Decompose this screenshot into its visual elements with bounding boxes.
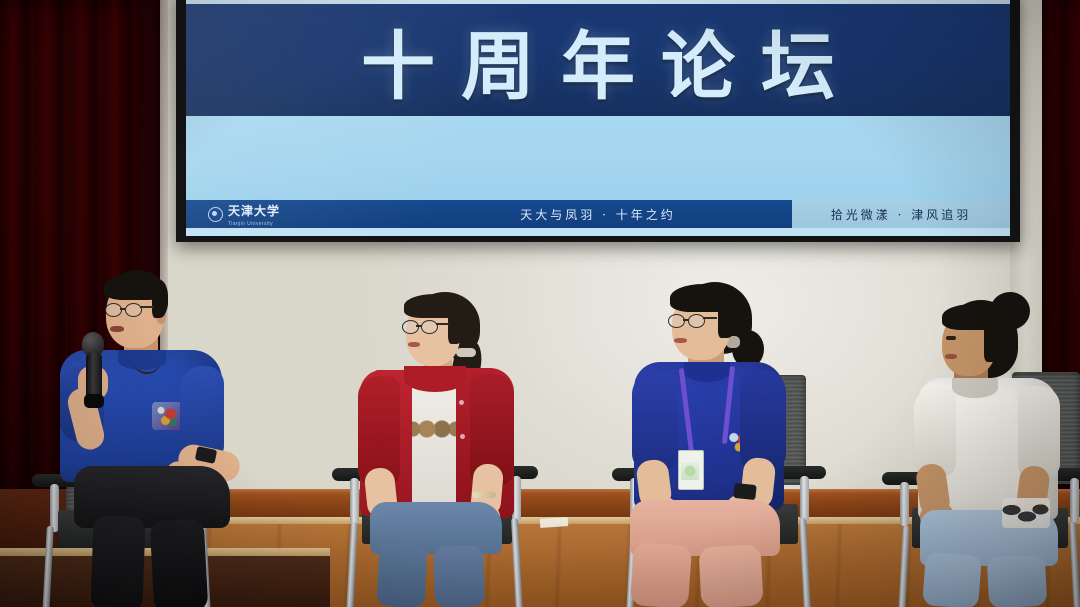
cardigan-collar (404, 366, 466, 392)
panelist-4 (918, 292, 1080, 607)
arm-right (740, 370, 786, 470)
paper-on-floor (540, 517, 569, 528)
panelist-2 (352, 292, 542, 607)
mouth (408, 342, 420, 347)
mouth (674, 338, 687, 343)
eyeglasses (402, 320, 458, 334)
glasses-lens-left (402, 320, 419, 334)
id-badge-graphic (681, 462, 699, 480)
projection-screen: 十周年论坛 天津大学 Tianjin University 天大与凤羽 · 十年… (186, 0, 1010, 236)
arm-left (632, 372, 678, 470)
mouth (945, 354, 957, 359)
glasses-temple (140, 306, 154, 308)
necklace (134, 352, 160, 374)
eyeglasses (668, 314, 726, 328)
slide-footer-bar: 天津大学 Tianjin University 天大与凤羽 · 十年之约 拾光微… (186, 200, 1010, 228)
arm-left (914, 388, 956, 476)
glasses-lens-left (105, 303, 122, 317)
shirt-logo (152, 402, 182, 430)
shin-right-trousers (698, 544, 763, 607)
jeans-graphic (1002, 498, 1050, 528)
panelist-3 (626, 282, 826, 607)
mouth (110, 326, 124, 332)
screenshot-canvas: 十周年论坛 天津大学 Tianjin University 天大与凤羽 · 十年… (0, 0, 1080, 607)
glasses-bridge (120, 308, 126, 310)
hair-tie (456, 348, 476, 357)
shin-left-trousers (630, 542, 692, 607)
cardigan-button (460, 434, 465, 439)
shirt-collar (684, 362, 730, 382)
chair-arm-post (900, 482, 909, 526)
wristwatch (733, 483, 756, 500)
glasses-temple (436, 323, 449, 325)
cardigan-button (459, 400, 464, 405)
panelist-1 (48, 270, 268, 607)
shin-left-jeans (922, 552, 982, 607)
shin-right-jeans (433, 545, 485, 607)
eye (946, 336, 956, 340)
slide-body-area (186, 116, 1010, 200)
microphone-grip (84, 394, 104, 408)
glasses-bridge (683, 319, 689, 321)
slide-footer-right-text: 拾光微漾 · 津风追羽 (792, 200, 1010, 228)
slide-title-text: 十周年论坛 (186, 4, 1010, 116)
chair-leg (897, 526, 910, 607)
shirt-collar (952, 378, 998, 398)
hair-side (984, 314, 1006, 362)
shin-right (150, 519, 209, 607)
shin-left (90, 515, 145, 607)
glasses-bridge (416, 325, 422, 327)
arm-right (1018, 386, 1060, 478)
bracelet (472, 492, 496, 498)
eyeglasses (105, 303, 161, 317)
shin-left-jeans (376, 543, 427, 607)
glasses-temple (703, 317, 717, 319)
glasses-lens-left (668, 314, 685, 328)
shin-right-jeans (987, 555, 1048, 607)
